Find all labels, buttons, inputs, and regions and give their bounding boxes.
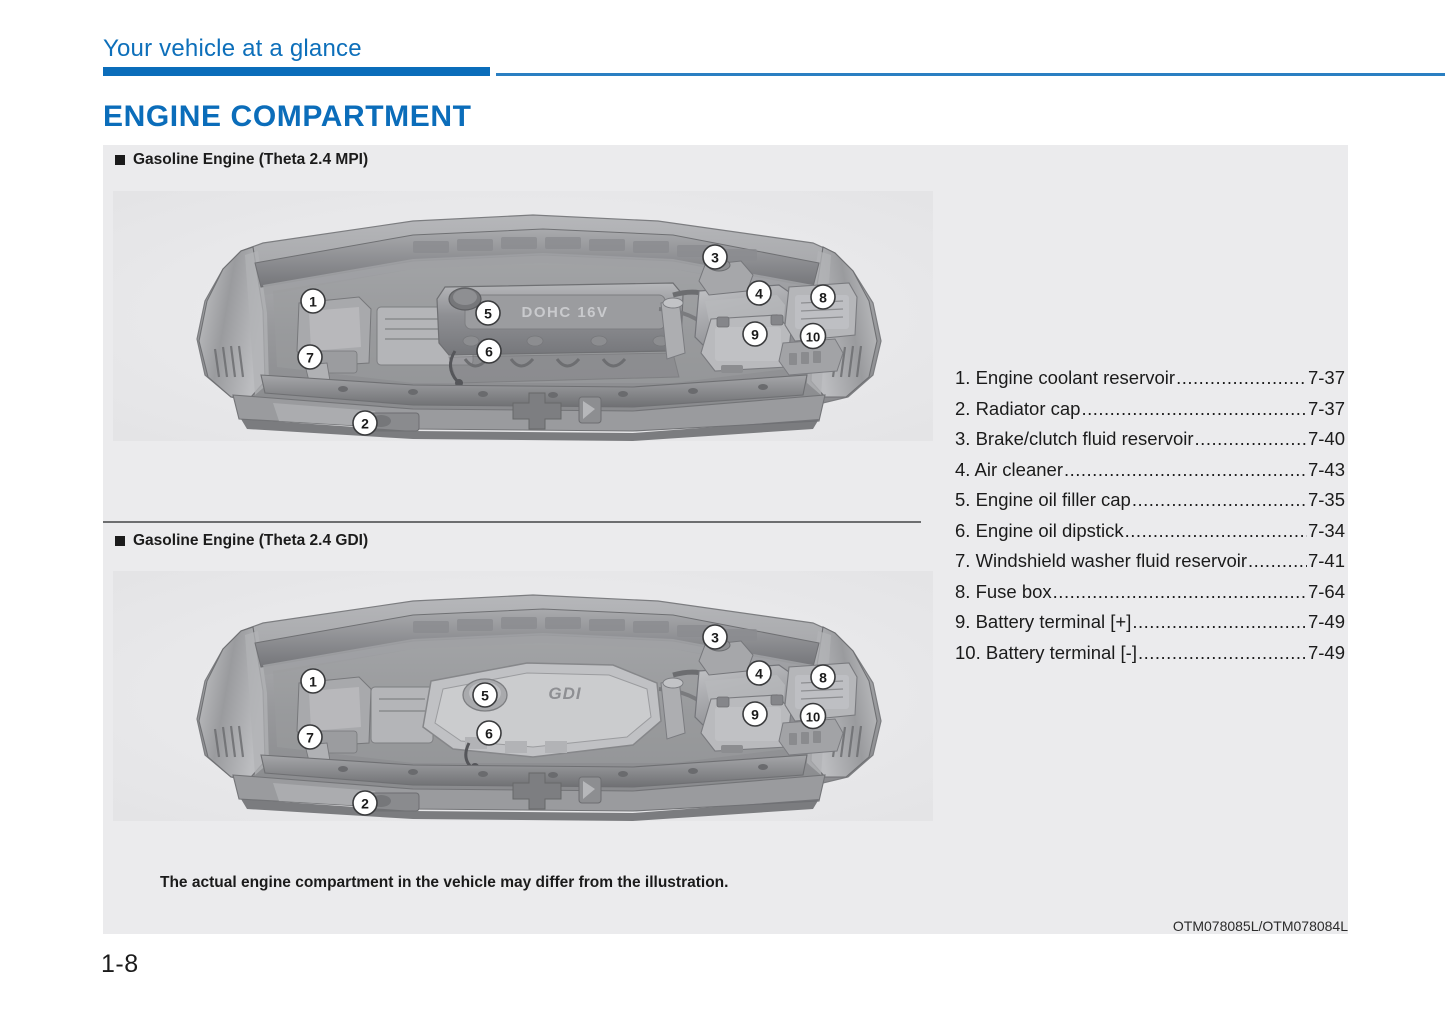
part-page-ref: 7-49 [1308,638,1345,669]
page-title: ENGINE COMPARTMENT [103,100,472,134]
leader-dots: ........................................… [1125,516,1307,547]
callout-4: 4 [747,661,771,685]
svg-text:2: 2 [361,796,369,812]
part-row: 9. Battery terminal [+] ................… [955,607,1345,638]
part-row: 6. Engine oil dipstick .................… [955,516,1345,547]
part-row: 10. Battery terminal [-] ...............… [955,638,1345,669]
parts-reference-list: 1. Engine coolant reservoir ............… [955,363,1345,668]
svg-text:5: 5 [481,688,489,704]
callout-10: 10 [801,324,826,349]
leader-dots: ........................................… [1064,455,1307,486]
content-panel: Gasoline Engine (Theta 2.4 MPI) [103,145,1348,934]
engine-cover-text-mpi: DOHC 16V [521,304,608,321]
svg-text:7: 7 [306,350,314,366]
part-row: 3. Brake/clutch fluid reservoir ........… [955,424,1345,455]
part-row: 5. Engine oil filler cap ...............… [955,485,1345,516]
part-row: 8. Fuse box ............................… [955,577,1345,608]
part-label: 6. Engine oil dipstick [955,516,1124,547]
svg-text:4: 4 [755,666,763,682]
part-label: 10. Battery terminal [-] [955,638,1137,669]
svg-text:6: 6 [485,726,493,742]
part-page-ref: 7-34 [1308,516,1345,547]
header-accent-bar [103,67,490,76]
callout-2: 2 [353,791,377,815]
leader-dots: ........................................… [1138,638,1307,669]
leader-dots: ........................................… [1053,577,1307,608]
part-row: 7. Windshield washer fluid reservoir ...… [955,546,1345,577]
callout-3: 3 [703,625,727,649]
part-page-ref: 7-49 [1308,607,1345,638]
svg-text:2: 2 [361,416,369,432]
part-page-ref: 7-41 [1308,546,1345,577]
bullet-square-icon [115,536,125,546]
section-heading-gdi: Gasoline Engine (Theta 2.4 GDI) [115,532,368,550]
part-label: 8. Fuse box [955,577,1052,608]
svg-text:5: 5 [484,306,492,322]
svg-text:4: 4 [755,286,763,302]
engine-cover-text-gdi: GDI [548,684,582,703]
svg-text:8: 8 [819,670,827,686]
part-label: 5. Engine oil filler cap [955,485,1131,516]
leader-dots: ........................................… [1132,607,1307,638]
svg-text:6: 6 [485,344,493,360]
leader-dots: ........................................… [1195,424,1307,455]
svg-text:8: 8 [819,290,827,306]
illustration-caption: The actual engine compartment in the veh… [160,874,728,892]
callout-2: 2 [353,411,377,435]
part-page-ref: 7-43 [1308,455,1345,486]
leader-dots: ........................................… [1132,485,1307,516]
running-header-title: Your vehicle at a glance [103,35,362,63]
svg-text:7: 7 [306,730,314,746]
leader-dots: ........................................… [1176,363,1307,394]
part-row: 4. Air cleaner .........................… [955,455,1345,486]
engine-compartment-illustration-mpi: DOHC 16V [113,191,933,441]
part-page-ref: 7-37 [1308,394,1345,425]
part-page-ref: 7-35 [1308,485,1345,516]
part-row: 1. Engine coolant reservoir ............… [955,363,1345,394]
header-rule-line [496,73,1445,76]
section-divider [103,521,921,523]
svg-text:1: 1 [309,294,317,310]
section-heading-mpi-label: Gasoline Engine (Theta 2.4 MPI) [133,151,368,169]
part-label: 7. Windshield washer fluid reservoir [955,546,1247,577]
callout-6: 6 [477,339,501,363]
part-label: 9. Battery terminal [+] [955,607,1131,638]
bullet-square-icon [115,155,125,165]
svg-text:3: 3 [711,250,719,266]
part-label: 3. Brake/clutch fluid reservoir [955,424,1194,455]
section-heading-mpi: Gasoline Engine (Theta 2.4 MPI) [115,151,368,169]
callout-7: 7 [298,345,322,369]
callout-1: 1 [301,669,325,693]
part-page-ref: 7-64 [1308,577,1345,608]
part-label: 2. Radiator cap [955,394,1080,425]
svg-text:10: 10 [806,710,820,725]
callout-8: 8 [811,665,835,689]
running-header: Your vehicle at a glance [0,0,1445,80]
callout-5: 5 [476,301,500,325]
svg-text:1: 1 [309,674,317,690]
part-label: 4. Air cleaner [955,455,1063,486]
callout-9: 9 [743,702,767,726]
part-page-ref: 7-37 [1308,363,1345,394]
page-number: 1-8 [101,950,139,979]
svg-text:10: 10 [806,330,820,345]
leader-dots: ........................................… [1081,394,1307,425]
callout-7: 7 [298,725,322,749]
leader-dots: ........................................… [1248,546,1307,577]
callout-1: 1 [301,289,325,313]
callout-4: 4 [747,281,771,305]
svg-text:9: 9 [751,327,759,343]
callout-5: 5 [473,683,497,707]
svg-text:3: 3 [711,630,719,646]
callout-8: 8 [811,285,835,309]
illustration-code: OTM078085L/OTM078084L [1173,918,1348,934]
section-heading-gdi-label: Gasoline Engine (Theta 2.4 GDI) [133,532,368,550]
part-row: 2. Radiator cap ........................… [955,394,1345,425]
engine-compartment-illustration-gdi: GDI [113,571,933,821]
callout-10: 10 [801,704,826,729]
part-page-ref: 7-40 [1308,424,1345,455]
svg-text:9: 9 [751,707,759,723]
callout-3: 3 [703,245,727,269]
part-label: 1. Engine coolant reservoir [955,363,1175,394]
callout-6: 6 [477,721,501,745]
callout-9: 9 [743,322,767,346]
